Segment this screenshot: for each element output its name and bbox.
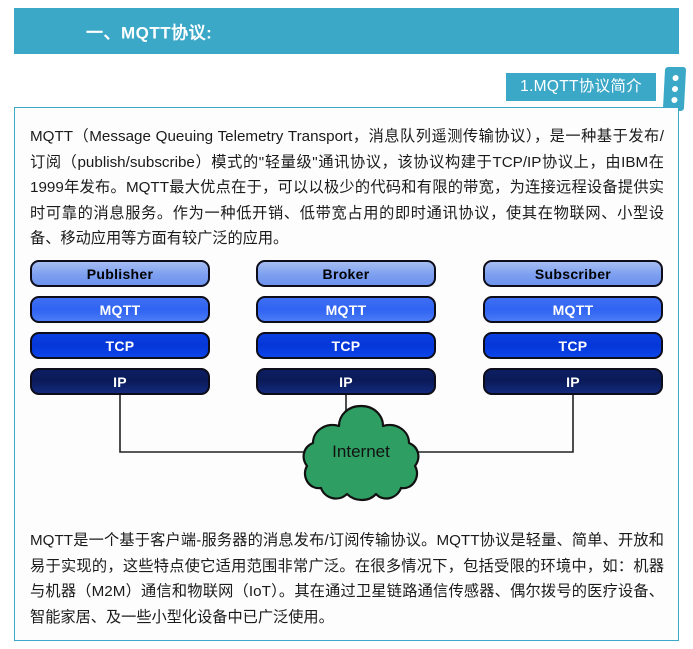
internet-cloud: Internet xyxy=(297,400,425,504)
stack-box-publisher-tcp: TCP xyxy=(30,332,210,359)
stack-box-publisher: Publisher xyxy=(30,260,210,287)
stack-column-publisher: Publisher MQTT TCP IP xyxy=(30,260,210,404)
cloud-icon xyxy=(297,400,425,504)
stack-box-subscriber-mqtt: MQTT xyxy=(483,296,663,323)
section-tab-mqtt-intro[interactable]: 1.MQTT协议简介 xyxy=(506,73,656,101)
page-title: 一、MQTT协议: xyxy=(86,19,212,44)
stack-box-broker: Broker xyxy=(256,260,436,287)
stack-box-broker-mqtt: MQTT xyxy=(256,296,436,323)
mqtt-architecture-diagram: Publisher MQTT TCP IP Broker MQTT TCP IP… xyxy=(15,260,678,522)
stack-column-broker: Broker MQTT TCP IP xyxy=(256,260,436,404)
stack-box-broker-tcp: TCP xyxy=(256,332,436,359)
stack-box-broker-ip: IP xyxy=(256,368,436,395)
content-panel: MQTT（Message Queuing Telemetry Transport… xyxy=(14,107,679,641)
summary-paragraph: MQTT是一个基于客户端-服务器的消息发布/订阅传输协议。MQTT协议是轻量、简… xyxy=(30,528,664,630)
three-dots-vertical-icon[interactable] xyxy=(663,67,686,111)
dot-2 xyxy=(671,86,677,92)
stack-box-publisher-ip: IP xyxy=(30,368,210,395)
stack-column-subscriber: Subscriber MQTT TCP IP xyxy=(483,260,663,404)
stack-box-subscriber: Subscriber xyxy=(483,260,663,287)
dot-1 xyxy=(672,75,678,81)
stack-box-subscriber-tcp: TCP xyxy=(483,332,663,359)
intro-paragraph: MQTT（Message Queuing Telemetry Transport… xyxy=(30,124,664,252)
section-header-banner: 一、MQTT协议: xyxy=(14,8,679,54)
stack-box-subscriber-ip: IP xyxy=(483,368,663,395)
stack-box-publisher-mqtt: MQTT xyxy=(30,296,210,323)
dot-3 xyxy=(671,97,677,103)
